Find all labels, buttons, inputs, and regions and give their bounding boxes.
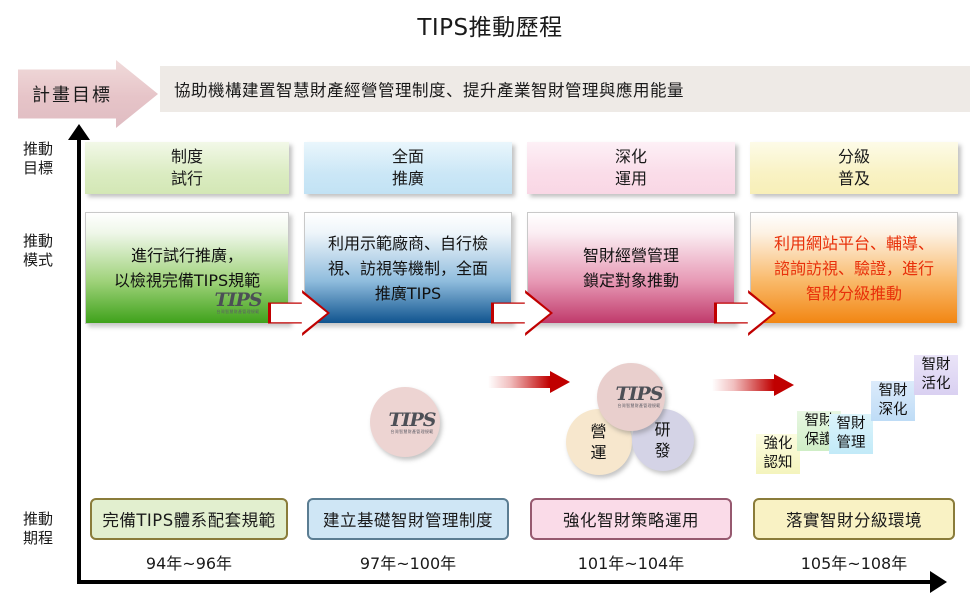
staircase-step-line1: 智財 bbox=[922, 356, 951, 375]
stage-mode-line2: 視、訪視等機制，全面 bbox=[328, 256, 488, 281]
staircase-step-line2: 活化 bbox=[922, 375, 951, 394]
row-label-schedule-line1: 推動 bbox=[8, 510, 68, 529]
operations-circle-label: 營 運 bbox=[590, 421, 607, 463]
row-label-goal-line1: 推動 bbox=[8, 140, 68, 159]
stage-header-box: 深化 運用 bbox=[527, 142, 735, 194]
tips-logo: TIPS 台灣智慧財產管理規範 bbox=[200, 290, 276, 316]
row-label-schedule-line2: 期程 bbox=[8, 529, 68, 548]
stage-header-line2: 推廣 bbox=[392, 168, 424, 190]
staircase-step: 智財 活化 bbox=[914, 355, 958, 395]
rnd-circle-label: 研 發 bbox=[654, 419, 671, 461]
row-label-mode: 推動 模式 bbox=[8, 232, 68, 270]
diagram-canvas: TIPS推動歷程 計畫目標 協助機構建置智慧財產經營管理制度、提升產業智財管理與… bbox=[0, 0, 980, 614]
stage-mode-line3: 推廣TIPS bbox=[328, 281, 488, 306]
x-axis-arrowhead-icon bbox=[930, 571, 947, 593]
stage-header-line1: 制度 bbox=[171, 146, 203, 168]
stage-header-box: 全面 推廣 bbox=[304, 142, 512, 194]
mid-progress-arrow-icon bbox=[712, 374, 794, 396]
operations-line1: 營 bbox=[590, 421, 607, 442]
stage-mode-line3: 智財分級推動 bbox=[774, 281, 934, 306]
stage-period-label: 94年~96年 bbox=[90, 550, 288, 574]
arrow-head bbox=[774, 374, 794, 396]
goal-arrow-label: 計畫目標 bbox=[22, 76, 122, 112]
stage-mode-line1: 進行試行推廣， bbox=[114, 243, 260, 268]
stage-mode-text: 進行試行推廣， 以檢視完備TIPS規範 bbox=[114, 243, 260, 293]
stage-header-box: 分級 普及 bbox=[750, 142, 958, 194]
rnd-line2: 發 bbox=[654, 440, 671, 461]
stage-period-label: 97年~100年 bbox=[307, 550, 509, 574]
stage-mode-line2: 諮詢訪視、驗證，進行 bbox=[774, 256, 934, 281]
stage-mode-line1: 智財經營管理 bbox=[583, 243, 679, 268]
row-label-mode-line2: 模式 bbox=[8, 251, 68, 270]
stage-result-box: 強化智財策略運用 bbox=[530, 498, 732, 540]
mid-progress-arrow-icon bbox=[488, 371, 570, 393]
staircase-step-line1: 強化 bbox=[764, 435, 793, 454]
stage-header-line2: 試行 bbox=[171, 168, 203, 190]
stage-result-box: 完備TIPS體系配套規範 bbox=[90, 498, 288, 540]
tips-logo-wordmark: TIPS bbox=[388, 412, 435, 429]
tips-logo: TIPS 台灣智慧財產管理規範 bbox=[601, 384, 677, 410]
tips-logo-wordmark: TIPS bbox=[615, 386, 662, 403]
staircase-step-line2: 深化 bbox=[879, 401, 908, 420]
row-label-goal: 推動 目標 bbox=[8, 140, 68, 178]
goal-banner: 協助機構建置智慧財產經營管理制度、提升產業智財管理與應用能量 bbox=[160, 66, 970, 112]
stage-header-box: 制度 試行 bbox=[85, 142, 289, 194]
operations-line2: 運 bbox=[590, 442, 607, 463]
tips-logo-wordmark: TIPS bbox=[214, 292, 261, 309]
arrow-shaft bbox=[488, 376, 550, 388]
staircase-step: 強化 認知 bbox=[756, 434, 800, 474]
stage-header-line1: 分級 bbox=[838, 146, 870, 168]
page-title: TIPS推動歷程 bbox=[0, 8, 980, 42]
stage-result-box: 落實智財分級環境 bbox=[753, 498, 955, 540]
stage-mode-text: 利用示範廠商、自行檢 視、訪視等機制，全面 推廣TIPS bbox=[328, 231, 488, 306]
row-label-schedule: 推動 期程 bbox=[8, 510, 68, 548]
stage-period-label: 101年~104年 bbox=[530, 550, 732, 574]
arrow-shaft bbox=[712, 379, 774, 391]
staircase-step-line2: 管理 bbox=[837, 434, 866, 453]
stage-mode-line1: 利用示範廠商、自行檢 bbox=[328, 231, 488, 256]
x-axis-line bbox=[77, 580, 937, 584]
stage-mode-line1: 利用網站平台、輔導、 bbox=[774, 231, 934, 256]
staircase-step-line1: 智財 bbox=[879, 382, 908, 401]
row-label-mode-line1: 推動 bbox=[8, 232, 68, 251]
stage-mode-box: 利用網站平台、輔導、 諮詢訪視、驗證，進行 智財分級推動 bbox=[750, 212, 958, 324]
stage-header-line2: 運用 bbox=[615, 168, 647, 190]
stage-period-label: 105年~108年 bbox=[753, 550, 955, 574]
stage-mode-box: 利用示範廠商、自行檢 視、訪視等機制，全面 推廣TIPS bbox=[304, 212, 512, 324]
stage-mode-line2: 鎖定對象推動 bbox=[583, 268, 679, 293]
stage-header-line1: 深化 bbox=[615, 146, 647, 168]
stage-mode-text: 利用網站平台、輔導、 諮詢訪視、驗證，進行 智財分級推動 bbox=[774, 231, 934, 306]
staircase-step-line1: 智財 bbox=[837, 415, 866, 434]
stage-header-line1: 全面 bbox=[392, 146, 424, 168]
stage-header-line2: 普及 bbox=[838, 168, 870, 190]
stage-mode-text: 智財經營管理 鎖定對象推動 bbox=[583, 243, 679, 293]
rnd-line1: 研 bbox=[654, 419, 671, 440]
staircase-step: 智財 管理 bbox=[829, 414, 873, 454]
staircase-step: 智財 深化 bbox=[871, 381, 915, 421]
row-label-goal-line2: 目標 bbox=[8, 159, 68, 178]
stage-result-box: 建立基礎智財管理制度 bbox=[307, 498, 509, 540]
staircase-step-line2: 認知 bbox=[764, 454, 793, 473]
stage-mode-box: 智財經營管理 鎖定對象推動 bbox=[527, 212, 735, 324]
y-axis-line bbox=[77, 132, 81, 584]
arrow-head bbox=[550, 371, 570, 393]
tips-logo: TIPS 台灣智慧財產管理規範 bbox=[374, 410, 450, 436]
y-axis-arrowhead-icon bbox=[68, 124, 90, 140]
